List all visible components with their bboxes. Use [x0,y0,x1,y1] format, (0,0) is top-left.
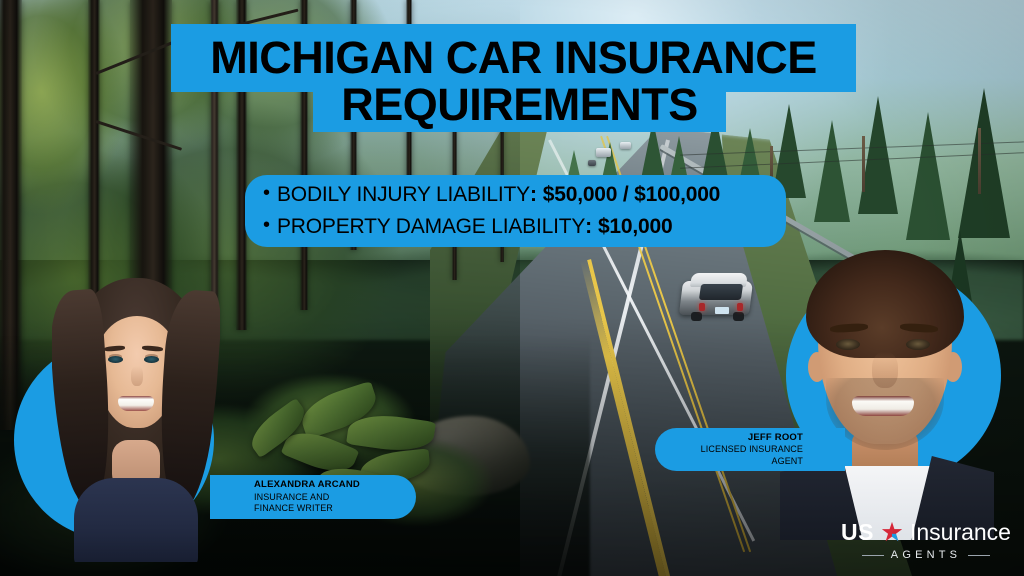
logo-rule-left [862,555,884,556]
requirement-item: • PROPERTY DAMAGE LIABILITY : $10,000 [245,211,786,243]
eye-left [836,339,860,350]
shirt [74,478,198,562]
person-role-line-1: LICENSED INSURANCE [655,444,803,456]
suv-vehicle [675,267,757,325]
avatar-jeff [778,240,998,540]
person-role-line-2: FINANCE WRITER [254,503,416,515]
person-role-line-2: AGENT [655,456,803,468]
requirement-separator: : [585,211,592,243]
requirement-separator: : [530,179,537,211]
promo-graphic: MICHIGAN CAR INSURANCE REQUIREMENTS • BO… [0,0,1024,576]
person-role-line-1: INSURANCE AND [254,492,416,504]
title-line-1-text: MICHIGAN CAR INSURANCE [210,35,817,80]
person-name: JEFF ROOT [655,432,803,444]
logo-rule-right [968,555,990,556]
mouth [852,396,914,416]
logo-subtitle: AGENTS [840,546,1012,564]
person-name: ALEXANDRA ARCAND [254,479,416,491]
suv-license-plate [715,307,729,314]
requirement-value: $50,000 / $100,000 [543,179,720,211]
eye-left [108,356,123,363]
suv-rear-window [699,284,743,300]
bullet-icon: • [263,183,277,203]
name-tag-alexandra: ALEXANDRA ARCAND INSURANCE AND FINANCE W… [210,475,416,519]
logo-text-agents: AGENTS [891,549,961,561]
requirement-label: BODILY INJURY LIABILITY [277,179,530,211]
logo-wordmark: US Insurance [840,518,1012,546]
requirement-item: • BODILY INJURY LIABILITY : $50,000 / $1… [245,179,786,211]
nose [131,366,143,386]
brand-logo[interactable]: US Insurance AGENTS [840,518,1012,568]
hair [806,250,964,358]
suv-taillight-left [699,303,705,311]
eye-right [906,339,930,350]
bullet-icon: • [263,215,277,235]
requirement-label: PROPERTY DAMAGE LIABILITY [277,211,585,243]
logo-text-us: US [841,519,874,546]
name-tag-jeff: JEFF ROOT LICENSED INSURANCE AGENT [655,428,845,471]
avatar-alexandra [52,272,220,562]
logo-text-insurance: Insurance [910,519,1011,546]
requirement-value: $10,000 [598,211,673,243]
requirements-panel: • BODILY INJURY LIABILITY : $50,000 / $1… [245,175,786,247]
star-icon [881,521,903,543]
title-banner-line-2: REQUIREMENTS [313,78,726,132]
eye-right [144,356,159,363]
suv-wheel-left [691,312,702,321]
mouth [118,396,154,411]
suv-wheel-right [733,312,744,321]
suv-taillight-right [737,303,743,311]
title-line-2-text: REQUIREMENTS [341,82,698,127]
